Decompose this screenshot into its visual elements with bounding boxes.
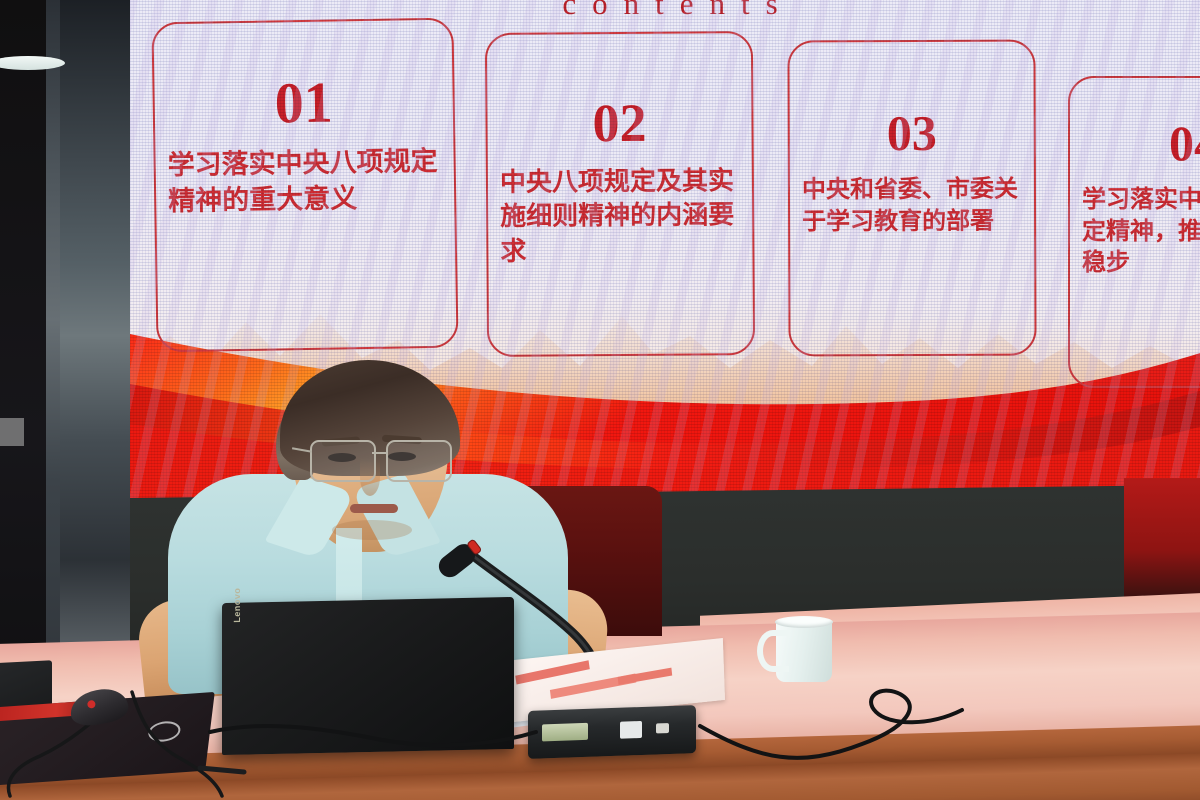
- steelseries-logo-icon: [147, 720, 181, 742]
- mic-talk-button[interactable]: [620, 721, 642, 739]
- document-red-mark: [618, 668, 673, 685]
- card-number-02: 02: [487, 95, 751, 151]
- mouth: [350, 504, 398, 513]
- card-text-02: 中央八项规定及其实施细则精神的内涵要求: [500, 163, 741, 268]
- lenovo-laptop[interactable]: Lenovo: [222, 597, 514, 755]
- card-number-03: 03: [790, 108, 1034, 159]
- card-text-04: 学习落实中央八项规定精神，推动投发展稳步: [1082, 184, 1200, 279]
- mic-status-led: [656, 723, 669, 733]
- card-number-01: 01: [154, 72, 453, 135]
- mug-rim: [775, 616, 833, 628]
- glasses-bridge: [372, 452, 388, 454]
- conference-room-photo: contents 01 学习落实中央八项规定精神的重大意义 02 中央八项规定及…: [0, 0, 1200, 800]
- contents-card-01[interactable]: 01 学习落实中央八项规定精神的重大意义: [151, 18, 458, 353]
- lenovo-logo: Lenovo: [232, 588, 242, 623]
- mouse-led-icon: [87, 700, 96, 709]
- card-text-01: 学习落实中央八项规定精神的重大意义: [167, 144, 442, 220]
- card-text-03: 中央和省委、市委关于学习教育的部署: [802, 174, 1022, 238]
- contents-card-03[interactable]: 03 中央和省委、市委关于学习教育的部署: [787, 40, 1036, 357]
- lens-left: [310, 440, 376, 482]
- eyeglasses: [306, 440, 456, 482]
- document-red-mark: [515, 660, 590, 684]
- contents-card-list: 01 学习落实中央八项规定精神的重大意义 02 中央八项规定及其实施细则精神的内…: [130, 0, 1200, 394]
- contents-card-04[interactable]: 04 学习落实中央八项规定精神，推动投发展稳步: [1068, 76, 1200, 388]
- mug-handle: [757, 630, 789, 672]
- chin-shadow: [332, 520, 412, 540]
- wall-left-fixture: [0, 418, 24, 446]
- card-number-04: 04: [1070, 118, 1200, 168]
- wall-right-red-panel: [1124, 478, 1200, 598]
- lens-right: [386, 440, 452, 482]
- ceramic-mug: [776, 620, 832, 682]
- contents-card-02[interactable]: 02 中央八项规定及其实施细则精神的内涵要求: [485, 31, 755, 357]
- mic-label-sticker: [542, 723, 588, 742]
- microphone-base-unit[interactable]: [528, 705, 696, 759]
